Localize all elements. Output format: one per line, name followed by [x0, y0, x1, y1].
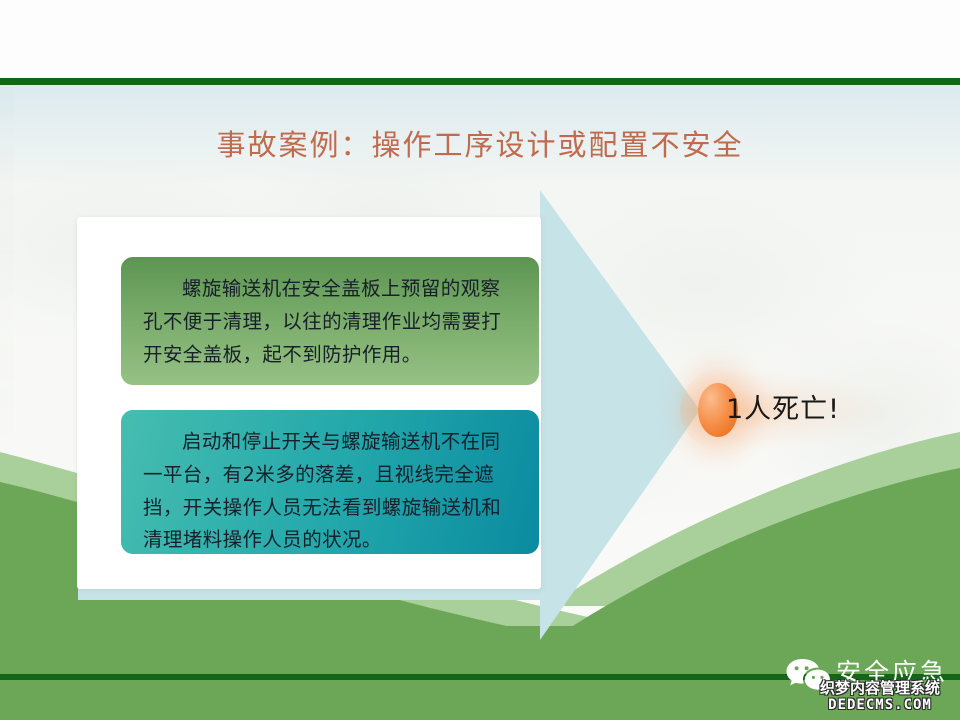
fatality-callout: 1人死亡! — [690, 378, 890, 442]
fatality-label: 1人死亡! — [726, 383, 840, 437]
top-white-band — [0, 0, 960, 80]
top-green-rule — [0, 78, 960, 85]
brand-block: 安全应急 — [786, 651, 960, 705]
brand-label: 安全应急 — [836, 653, 948, 693]
page-title: 事故案例：操作工序设计或配置不安全 — [0, 122, 960, 164]
wechat-icon — [786, 657, 830, 693]
slide-root: 事故案例：操作工序设计或配置不安全 螺旋输送机在安全盖板上预留的观察孔不便于清理… — [0, 0, 960, 720]
cause-box-1: 螺旋输送机在安全盖板上预留的观察孔不便于清理，以往的清理作业均需要打开安全盖板，… — [119, 255, 541, 387]
cause-box-2: 启动和停止开关与螺旋输送机不在同一平台，有2米多的落差，且视线完全遮挡，开关操作… — [119, 408, 541, 556]
